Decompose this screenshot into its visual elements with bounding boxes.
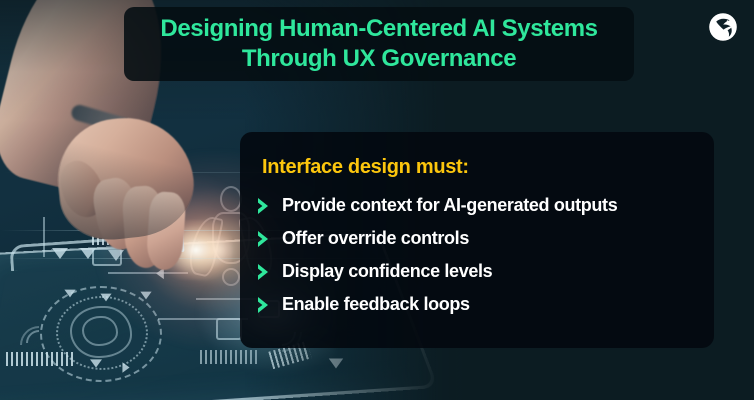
- list-item-label: Enable feedback loops: [282, 294, 470, 315]
- list-item-label: Offer override controls: [282, 228, 469, 249]
- list-item: Provide context for AI-generated outputs: [254, 191, 696, 220]
- chevron-right-icon: [254, 195, 274, 217]
- list-item-label: Display confidence levels: [282, 261, 492, 282]
- content-panel: Interface design must: Provide context f…: [240, 132, 714, 348]
- title-bar: Designing Human-Centered AI Systems Thro…: [124, 7, 634, 81]
- list-item-label: Provide context for AI-generated outputs: [282, 195, 617, 216]
- chevron-right-icon: [254, 261, 274, 283]
- crescent-bird-logo-icon[interactable]: [708, 12, 738, 42]
- title-line-2: Through UX Governance: [242, 44, 516, 74]
- title-line-1: Designing Human-Centered AI Systems: [160, 14, 597, 44]
- slide-canvas: Designing Human-Centered AI Systems Thro…: [0, 0, 754, 400]
- list-item: Offer override controls: [254, 224, 696, 253]
- chevron-right-icon: [254, 228, 274, 250]
- chevron-right-icon: [254, 294, 274, 316]
- list-item: Display confidence levels: [254, 257, 696, 286]
- list-item: Enable feedback loops: [254, 290, 696, 319]
- bullet-list: Provide context for AI-generated outputs…: [254, 191, 696, 319]
- panel-heading: Interface design must:: [262, 156, 696, 179]
